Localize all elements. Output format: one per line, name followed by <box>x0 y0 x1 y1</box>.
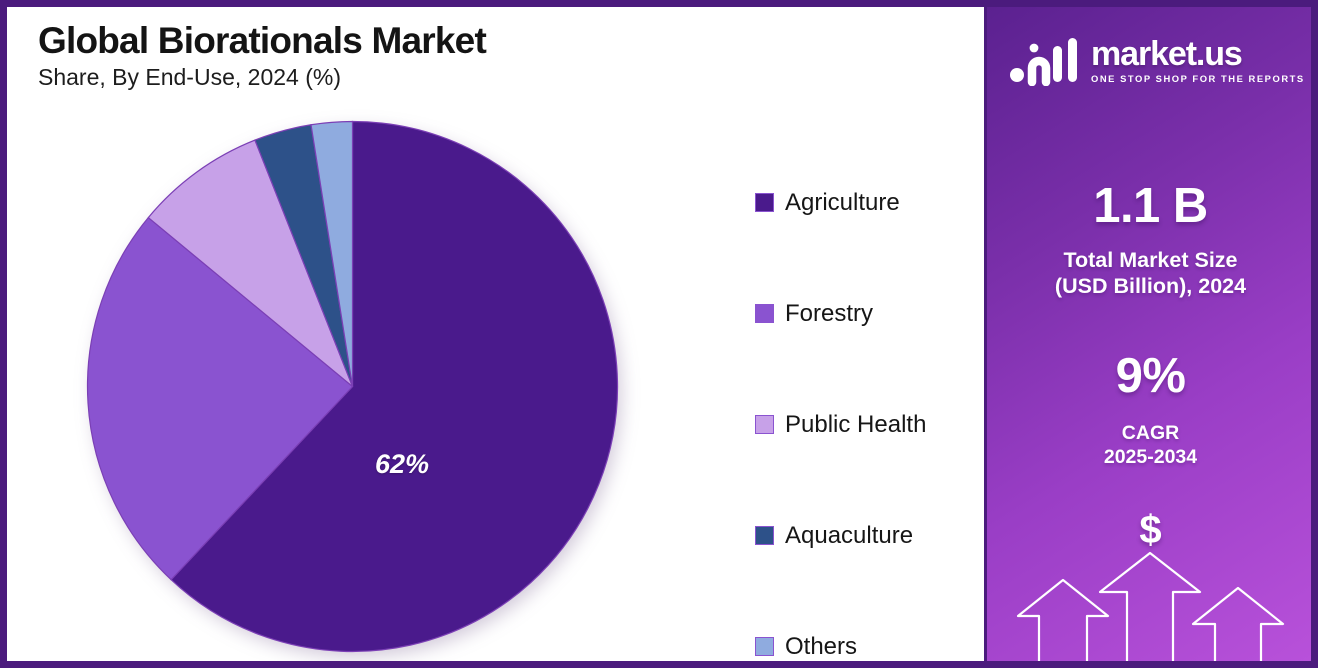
pie-svg <box>85 119 620 654</box>
market-us-logo-icon <box>1009 32 1083 86</box>
legend-swatch-icon <box>755 415 774 434</box>
legend-swatch-icon <box>755 526 774 545</box>
market-size-caption-line2: (USD Billion), 2024 <box>987 273 1311 299</box>
brand-logo: market.us ONE STOP SHOP FOR THE REPORTS <box>1009 32 1305 86</box>
legend-item-public-health[interactable]: Public Health <box>755 369 985 480</box>
infographic-root: Global Biorationals Market Share, By End… <box>0 0 1318 668</box>
stat-cagr: 9% CAGR 2025-2034 <box>987 352 1311 470</box>
stats-panel: market.us ONE STOP SHOP FOR THE REPORTS … <box>984 7 1311 661</box>
market-size-caption: Total Market Size (USD Billion), 2024 <box>987 247 1311 299</box>
legend-item-others[interactable]: Others <box>755 591 985 668</box>
legend-item-forestry[interactable]: Forestry <box>755 258 985 369</box>
legend-item-label: Agriculture <box>785 191 900 215</box>
legend-item-agriculture[interactable]: Agriculture <box>755 147 985 258</box>
cagr-caption: CAGR 2025-2034 <box>987 421 1311 470</box>
chart-title: Global Biorationals Market <box>38 20 486 62</box>
brand-wordmark: market.us <box>1091 37 1305 71</box>
stat-total-market-size: 1.1 B Total Market Size (USD Billion), 2… <box>987 182 1311 299</box>
market-size-caption-line1: Total Market Size <box>987 247 1311 273</box>
pie-chart: 62% <box>85 119 620 654</box>
legend-item-label: Forestry <box>785 302 873 326</box>
legend-item-label: Others <box>785 635 857 659</box>
cagr-caption-line2: 2025-2034 <box>987 445 1311 469</box>
legend-swatch-icon <box>755 193 774 212</box>
legend-swatch-icon <box>755 304 774 323</box>
legend-item-aquaculture[interactable]: Aquaculture <box>755 480 985 591</box>
brand-text-block: market.us ONE STOP SHOP FOR THE REPORTS <box>1091 35 1305 83</box>
cagr-value: 9% <box>987 352 1311 401</box>
brand-tagline: ONE STOP SHOP FOR THE REPORTS <box>1091 74 1305 83</box>
legend-swatch-icon <box>755 637 774 656</box>
cagr-caption-line1: CAGR <box>987 421 1311 445</box>
chart-subtitle: Share, By End-Use, 2024 (%) <box>38 64 341 91</box>
chart-panel: Global Biorationals Market Share, By End… <box>7 7 985 661</box>
dollar-sign-icon: $ <box>987 510 1311 550</box>
legend-item-label: Aquaculture <box>785 524 913 548</box>
legend-item-label: Public Health <box>785 413 926 437</box>
market-size-value: 1.1 B <box>987 182 1311 231</box>
chart-legend: AgricultureForestryPublic HealthAquacult… <box>755 147 985 668</box>
growth-arrows-graphic: $ <box>987 496 1311 661</box>
